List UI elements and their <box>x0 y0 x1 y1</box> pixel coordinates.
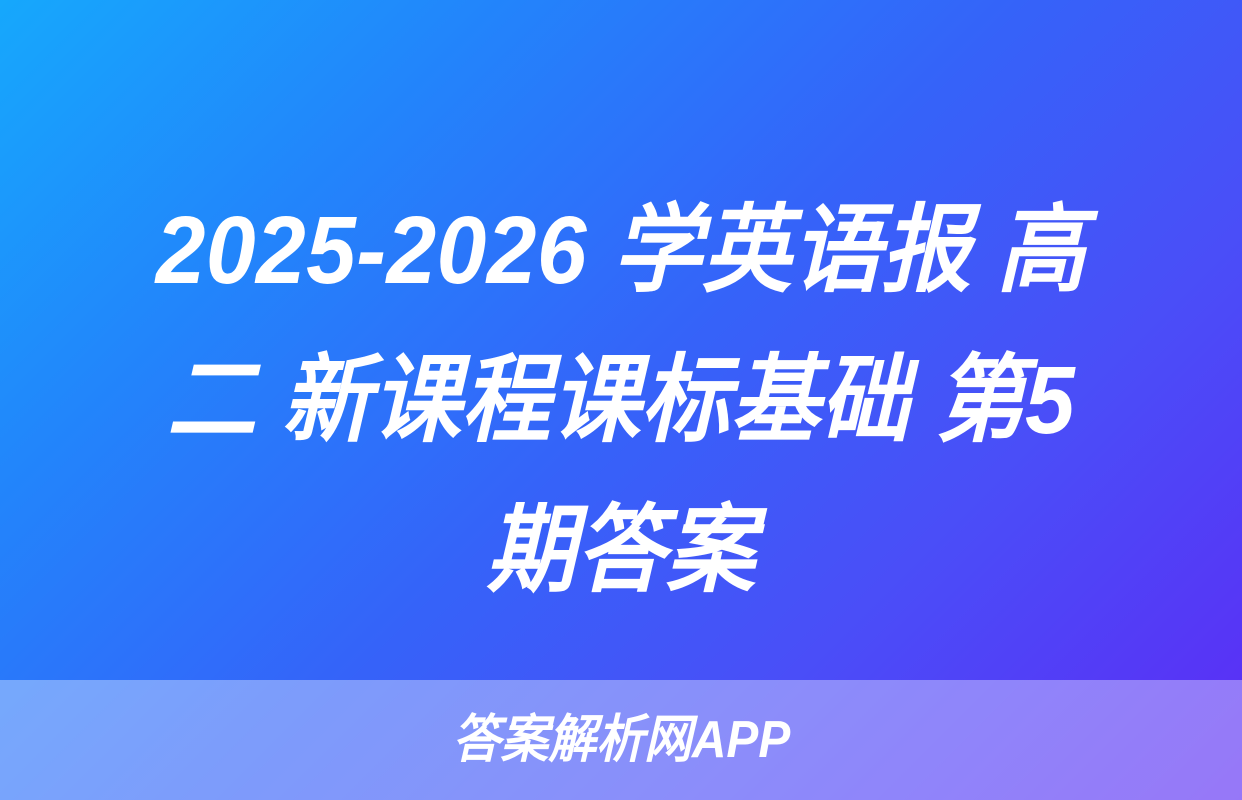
title-line-1: 2025-2026 学英语报 高 <box>99 176 1142 326</box>
footer-brand-band: 答案解析网APP <box>0 680 1242 800</box>
title-line-2: 二 新课程课标基础 第5 <box>99 326 1142 476</box>
poster-title: 2025-2026 学英语报 高 二 新课程课标基础 第5 期答案 <box>0 176 1242 626</box>
footer-brand-label: 答案解析网APP <box>452 714 790 766</box>
title-line-3: 期答案 <box>99 476 1142 626</box>
poster-canvas: 2025-2026 学英语报 高 二 新课程课标基础 第5 期答案 答案解析网A… <box>0 0 1242 800</box>
